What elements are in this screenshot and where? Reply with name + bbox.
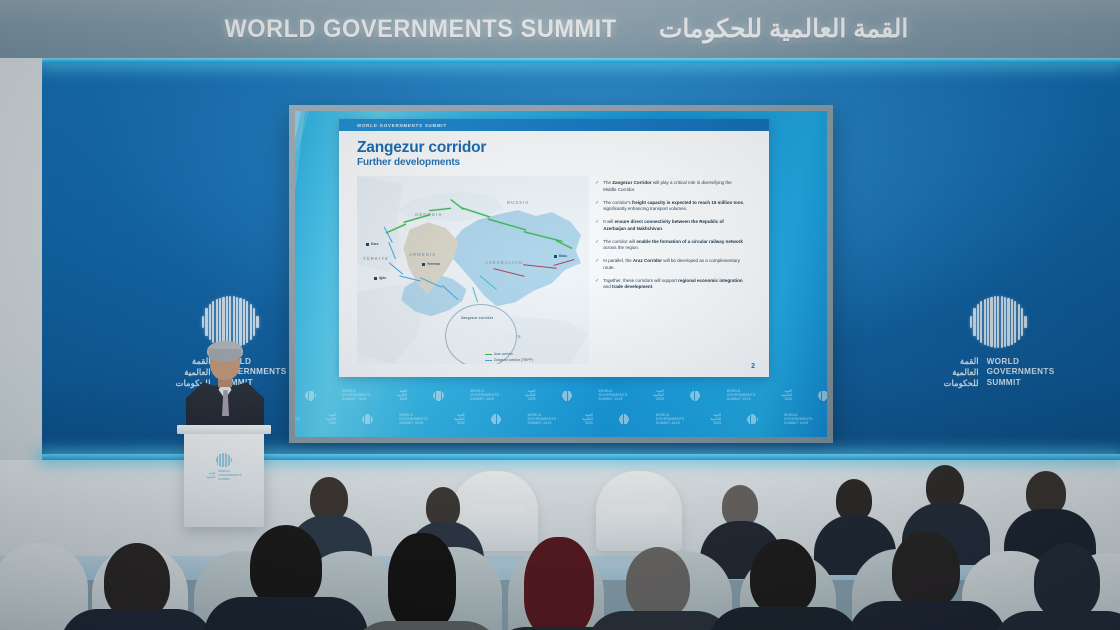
audience-shoulders — [204, 597, 368, 630]
bullet-item: ✓ The corridor's freight capacity is exp… — [595, 200, 745, 213]
backdrop-logo-item: القمةالعالمية2025 — [454, 413, 464, 425]
backdrop-logo-arabic: القمةالعالمية2025 — [582, 413, 592, 425]
map-inset-label: Zangezur corridor — [461, 316, 493, 320]
slide-map: RUSSIA GEORGIA ARMENIA AZERBAIJAN TÜRKIY… — [357, 176, 589, 364]
bullet-text: The Zangezur Corridor will play a critic… — [603, 180, 745, 193]
map-city-yerevan: Yerevan — [427, 262, 440, 266]
backdrop-logo-arabic: القمةالعالمية2025 — [454, 413, 464, 425]
audience-shoulders — [60, 609, 214, 630]
wgs-fan-icon — [491, 413, 502, 424]
bullet-item: ✓ The corridor will enable the formation… — [595, 239, 745, 252]
backdrop-logo-item: WORLDGOVERNMENTSSUMMIT 2025 — [656, 413, 685, 425]
map-city-kars: Kars — [371, 242, 379, 246]
backdrop-logo-arabic: القمةالعالمية2025 — [326, 413, 336, 425]
slide-title: Zangezur corridor — [357, 140, 755, 156]
bullet-text: The corridor's freight capacity is expec… — [603, 200, 745, 213]
backdrop-logo-item — [362, 413, 373, 424]
map-label-russia: RUSSIA — [507, 200, 529, 205]
ar-line-2: العالمية — [943, 367, 978, 378]
backdrop-logo-item — [690, 390, 701, 401]
checkmark-icon: ✓ — [595, 219, 599, 232]
audience-head — [626, 547, 690, 619]
en-line-2: GOVERNMENTS — [987, 367, 1055, 378]
wgs-fan-icon — [202, 290, 260, 348]
audience-head — [250, 525, 322, 607]
backdrop-logo-item: WORLDGOVERNMENTSSUMMIT 2025 — [784, 413, 813, 425]
audience-head — [1034, 543, 1100, 619]
backdrop-logo-english: WORLDGOVERNMENTSSUMMIT 2025 — [599, 389, 628, 401]
backdrop-logo-item: WORLDGOVERNMENTSSUMMIT 2025 — [399, 413, 428, 425]
wall-logo-right-english: WORLD GOVERNMENTS SUMMIT — [987, 357, 1055, 389]
conference-hall-scene: WORLD GOVERNMENTS SUMMIT القمة العالمية … — [0, 0, 1120, 630]
map-legend: Araz corridor Zangezur corridor (TRIPP) — [485, 352, 533, 363]
backdrop-logo-item: WORLDGOVERNMENTSSUMMIT 2025 — [470, 389, 499, 401]
backdrop-logo-item: WORLDGOVERNMENTSSUMMIT 2025 — [599, 389, 628, 401]
backdrop-logo-item — [619, 413, 630, 424]
backdrop-logo-english: WORLDGOVERNMENTSSUMMIT 2025 — [727, 389, 756, 401]
backdrop-logo-arabic: القمةالعالمية2025 — [711, 413, 721, 425]
en-line-3: SUMMIT — [987, 378, 1055, 389]
wgs-fan-icon — [433, 390, 444, 401]
backdrop-logo-arabic: القمةالعالمية2025 — [397, 389, 407, 401]
backdrop-logo-arabic: القمةالعالمية2025 — [653, 389, 663, 401]
backdrop-logo-english: WORLDGOVERNMENTSSUMMIT 2025 — [784, 413, 813, 425]
checkmark-icon: ✓ — [595, 180, 599, 193]
checkmark-icon: ✓ — [595, 200, 599, 213]
backdrop-logo-english: WORLDGOVERNMENTSSUMMIT 2025 — [528, 413, 557, 425]
header-title-arabic: القمة العالمية للحكومات — [659, 14, 909, 44]
backdrop-logo-item: WORLDGOVERNMENTSSUMMIT 2025 — [528, 413, 557, 425]
audience-seating — [0, 455, 1120, 630]
wgs-fan-icon — [619, 413, 630, 424]
checkmark-icon: ✓ — [595, 258, 599, 271]
wgs-fan-icon — [562, 390, 573, 401]
slide-subtitle: Further developments — [357, 157, 755, 168]
checkmark-icon: ✓ — [595, 239, 599, 252]
map-city-igdir: Iğdır — [379, 276, 386, 280]
slide-eyebrow-bar: WORLD GOVERNMENTS SUMMIT — [339, 119, 769, 131]
wgs-fan-icon — [970, 290, 1028, 348]
wgs-fan-icon — [362, 413, 373, 424]
backdrop-logo-item: القمةالعالمية2025 — [525, 389, 535, 401]
backdrop-logo-item — [562, 390, 573, 401]
backdrop-logo-english: WORLDGOVERNMENTSSUMMIT 2025 — [399, 413, 428, 425]
audience-head — [104, 543, 170, 619]
bullet-item: ✓ Together, these corridors will support… — [595, 278, 745, 291]
backdrop-logo-item: القمةالعالمية2025 — [653, 389, 663, 401]
presentation-slide: WORLD GOVERNMENTS SUMMIT Zangezur corrid… — [339, 119, 769, 377]
projection-screen: WORLD GOVERNMENTS SUMMIT Zangezur corrid… — [295, 111, 827, 437]
wall-logo-right: القمة العالمية للحكومات WORLD GOVERNMENT… — [914, 290, 1084, 390]
backdrop-logo-item: القمةالعالمية2025 — [711, 413, 721, 425]
backdrop-logo-item — [747, 413, 758, 424]
checkmark-icon: ✓ — [595, 278, 599, 291]
map-legend-item: Zangezur corridor (TRIPP) — [485, 358, 533, 363]
bullet-text: The corridor will enable the formation o… — [603, 239, 745, 252]
map-label-azerbaijan: AZERBAIJAN — [485, 260, 523, 265]
backdrop-logo-item: WORLDGOVERNMENTSSUMMIT 2025 — [727, 389, 756, 401]
audience-head-long-hair — [388, 533, 456, 630]
header-title-english: WORLD GOVERNMENTS SUMMIT — [224, 15, 616, 44]
backdrop-logo-item — [305, 390, 316, 401]
bullet-text: It will ensure direct connectivity betwe… — [603, 219, 745, 232]
audience-shoulders — [848, 601, 1006, 630]
slide-eyebrow-text: WORLD GOVERNMENTS SUMMIT — [357, 122, 447, 127]
bullet-item: ✓ It will ensure direct connectivity bet… — [595, 219, 745, 232]
backdrop-logo-item: WORLDGOVERNMENTSSUMMIT 2025 — [342, 389, 371, 401]
wall-logo-right-arabic: القمة العالمية للحكومات — [943, 356, 978, 390]
slide-page-number: 2 — [751, 363, 755, 370]
map-label-turkiye: TÜRKIYE — [363, 256, 389, 261]
podium-surface — [177, 425, 271, 434]
backdrop-logo-item: القمةالعالمية2025 — [397, 389, 407, 401]
backdrop-logo-english: WORLDGOVERNMENTSSUMMIT 2025 — [342, 389, 371, 401]
slide-bullet-list: ✓ The Zangezur Corridor will play a crit… — [595, 176, 745, 364]
wgs-fan-icon — [690, 390, 701, 401]
wgs-fan-icon — [305, 390, 316, 401]
backdrop-logo-english: WORLDGOVERNMENTSSUMMIT 2025 — [470, 389, 499, 401]
wgs-fan-icon — [818, 390, 827, 401]
stage-armchair — [596, 471, 682, 551]
venue-header-band: WORLD GOVERNMENTS SUMMIT القمة العالمية … — [0, 0, 1120, 58]
backdrop-logo-item: القمةالعالمية2025 — [582, 413, 592, 425]
audience-head-red-hair — [524, 537, 594, 630]
audience-head — [892, 531, 960, 609]
map-label-armenia: ARMENIA — [409, 252, 436, 257]
en-line-1: WORLD — [987, 357, 1055, 368]
bullet-item: ✓ The Zangezur Corridor will play a crit… — [595, 180, 745, 193]
backdrop-logo-english: WORLDGOVERNMENTSSUMMIT 2025 — [295, 413, 300, 425]
projection-screen-frame: WORLD GOVERNMENTS SUMMIT Zangezur corrid… — [289, 105, 833, 443]
backdrop-logo-item — [433, 390, 444, 401]
audience-shoulders — [708, 607, 860, 630]
backdrop-logo-arabic: القمةالعالمية2025 — [525, 389, 535, 401]
backdrop-logo-item: القمةالعالمية2025 — [782, 389, 792, 401]
screen-logo-pattern: WORLDGOVERNMENTSSUMMIT 2025القمةالعالمية… — [295, 377, 827, 437]
ar-line-3: للحكومات — [943, 378, 978, 389]
backdrop-logo-item: القمةالعالمية2025 — [326, 413, 336, 425]
backdrop-logo-item: WORLDGOVERNMENTSSUMMIT 2025 — [295, 413, 300, 425]
bullet-item: ✓ In parallel, the Araz Corridor will be… — [595, 258, 745, 271]
wgs-fan-icon — [747, 413, 758, 424]
bullet-text: Together, these corridors will support r… — [603, 278, 745, 291]
backdrop-logo-item — [818, 390, 827, 401]
ar-line-1: القمة — [943, 356, 978, 367]
backdrop-logo-arabic: القمةالعالمية2025 — [782, 389, 792, 401]
backdrop-logo-english: WORLDGOVERNMENTSSUMMIT 2025 — [656, 413, 685, 425]
backdrop-logo-item — [491, 413, 502, 424]
bullet-text: In parallel, the Araz Corridor will be d… — [603, 258, 745, 271]
speaker-hair — [207, 341, 243, 361]
audience-head — [750, 539, 816, 615]
map-city-baku: Baku — [559, 254, 567, 258]
